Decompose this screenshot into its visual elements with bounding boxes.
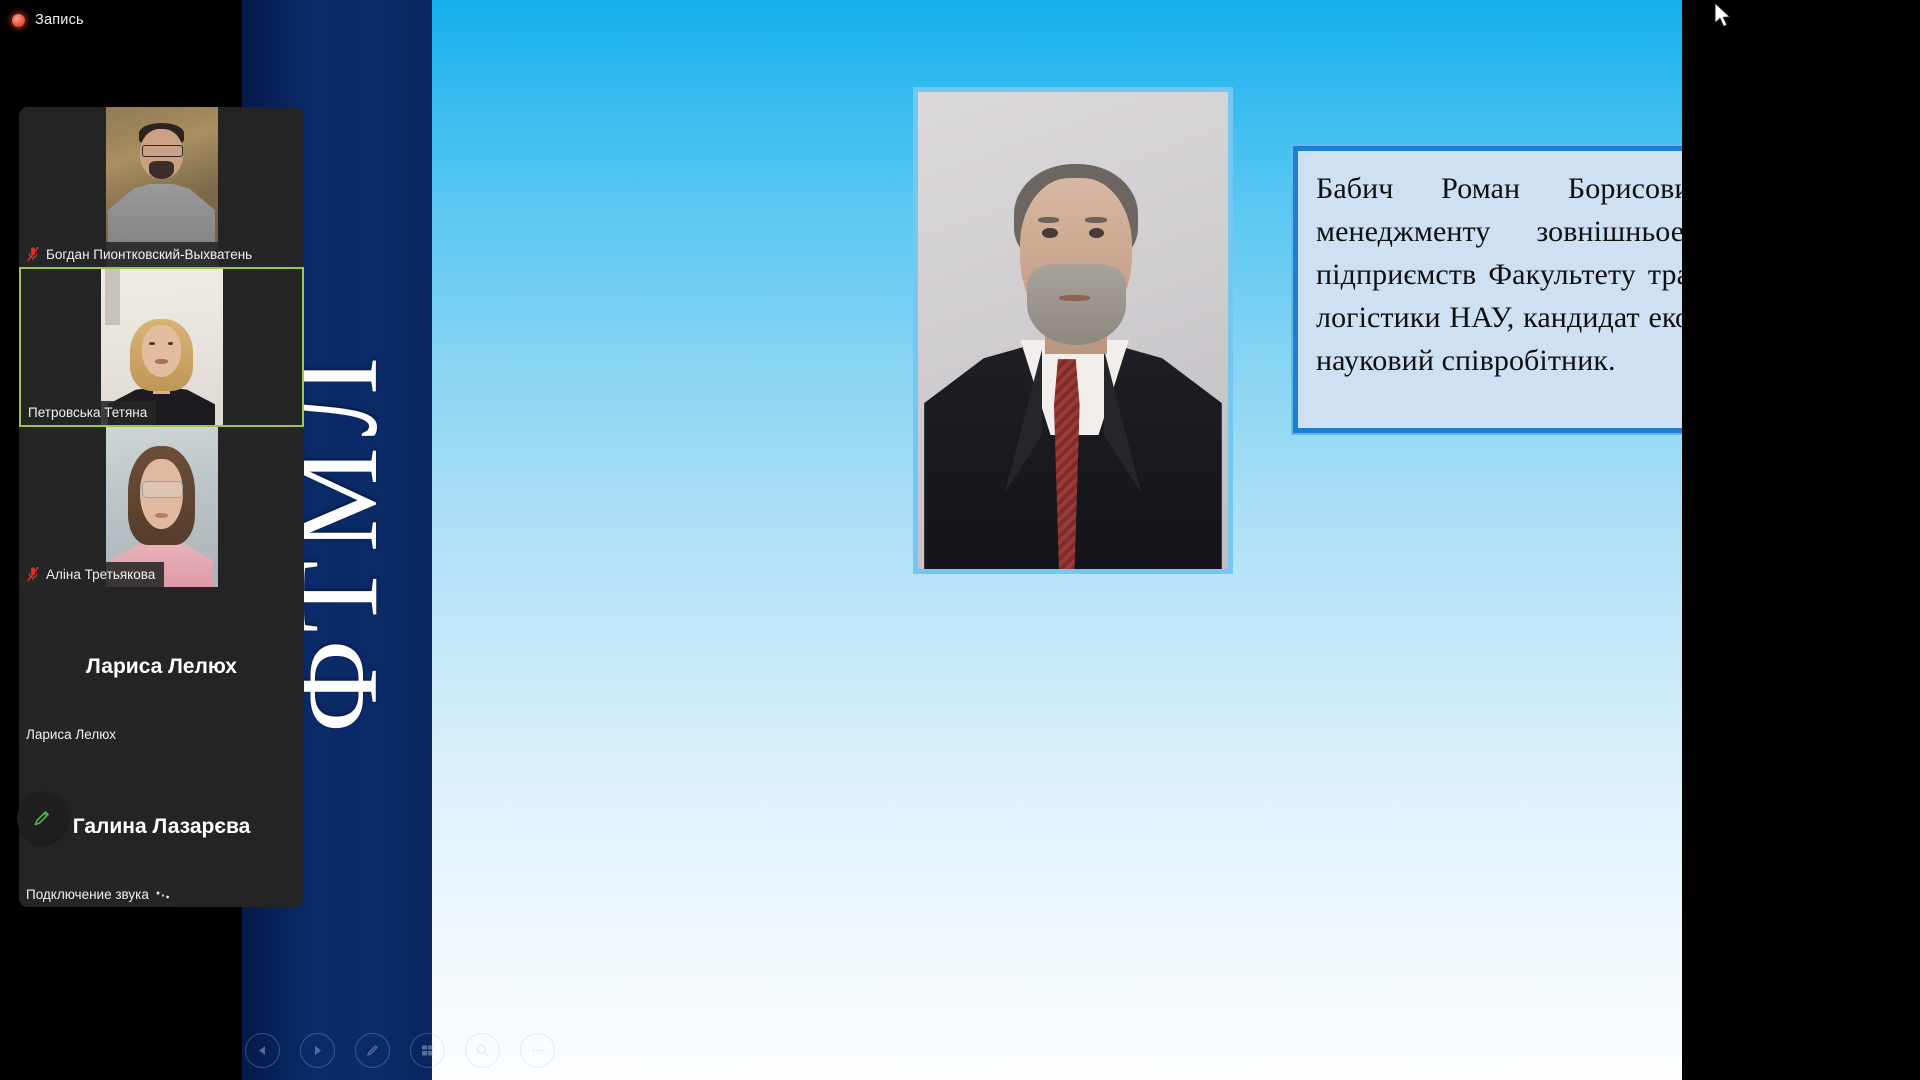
participant-filmstrip[interactable]: Богдан Пионтковский-Выхватень Петровська… — [19, 107, 304, 907]
all-slides-button[interactable] — [410, 1033, 445, 1068]
participant-name: Петровська Тетяна — [28, 405, 147, 420]
recording-label: Запись — [35, 12, 84, 28]
pen-icon — [365, 1043, 380, 1058]
participant-name-badge: Богдан Пионтковский-Выхватень — [19, 242, 261, 267]
triangle-right-icon — [311, 1044, 324, 1057]
recording-dot-icon — [12, 14, 25, 27]
recording-indicator: Запись — [0, 0, 242, 40]
mic-muted-icon — [26, 246, 40, 262]
speaker-portrait-photo — [913, 87, 1233, 574]
next-slide-button[interactable] — [300, 1033, 335, 1068]
pen-tool-button[interactable] — [355, 1033, 390, 1068]
participant-name: Лариса Лелюх — [26, 727, 116, 742]
grid-icon — [420, 1043, 435, 1058]
participant-tile[interactable]: Лариса Лелюх Лариса Лелюх — [19, 587, 304, 747]
annotate-pen-button[interactable] — [17, 793, 67, 843]
magnifier-icon — [475, 1043, 490, 1058]
participant-name-badge: Аліна Третьякова — [19, 562, 164, 587]
shared-slide: Бабич Роман Борисович, доцент кафедри ме… — [432, 0, 1682, 1080]
participant-name-badge: Петровська Тетяна — [21, 401, 156, 425]
participant-tile[interactable]: Богдан Пионтковский-Выхватень — [19, 107, 304, 267]
more-options-button[interactable] — [520, 1033, 555, 1068]
presenter-toolbar — [245, 1033, 555, 1068]
audio-connecting-badge: Подключение звука — [19, 883, 180, 907]
participant-tile[interactable]: Аліна Третьякова — [19, 427, 304, 587]
mouse-cursor — [1713, 2, 1735, 32]
mic-muted-icon — [26, 566, 40, 582]
loading-spinner-icon — [155, 889, 171, 901]
triangle-left-icon — [256, 1044, 269, 1057]
zoom-presentation-screen: Запись Б — [0, 0, 1920, 1080]
participant-name: Аліна Третьякова — [46, 567, 155, 582]
slide-caption-text: Бабич Роман Борисович, доцент кафедри ме… — [1316, 167, 1682, 382]
participant-display-name: Галина Лазарєва — [63, 815, 261, 839]
previous-slide-button[interactable] — [245, 1033, 280, 1068]
pen-icon — [31, 807, 53, 829]
zoom-slide-button[interactable] — [465, 1033, 500, 1068]
participant-tile-active-speaker[interactable]: Петровська Тетяна — [19, 267, 304, 427]
ellipsis-icon — [530, 1043, 545, 1058]
slide-caption-box: Бабич Роман Борисович, доцент кафедри ме… — [1293, 146, 1682, 433]
audio-connecting-label: Подключение звука — [26, 887, 149, 902]
participant-name-badge: Лариса Лелюх — [19, 723, 125, 747]
participant-display-name: Лариса Лелюх — [76, 655, 247, 679]
participant-name: Богдан Пионтковский-Выхватень — [46, 247, 252, 262]
